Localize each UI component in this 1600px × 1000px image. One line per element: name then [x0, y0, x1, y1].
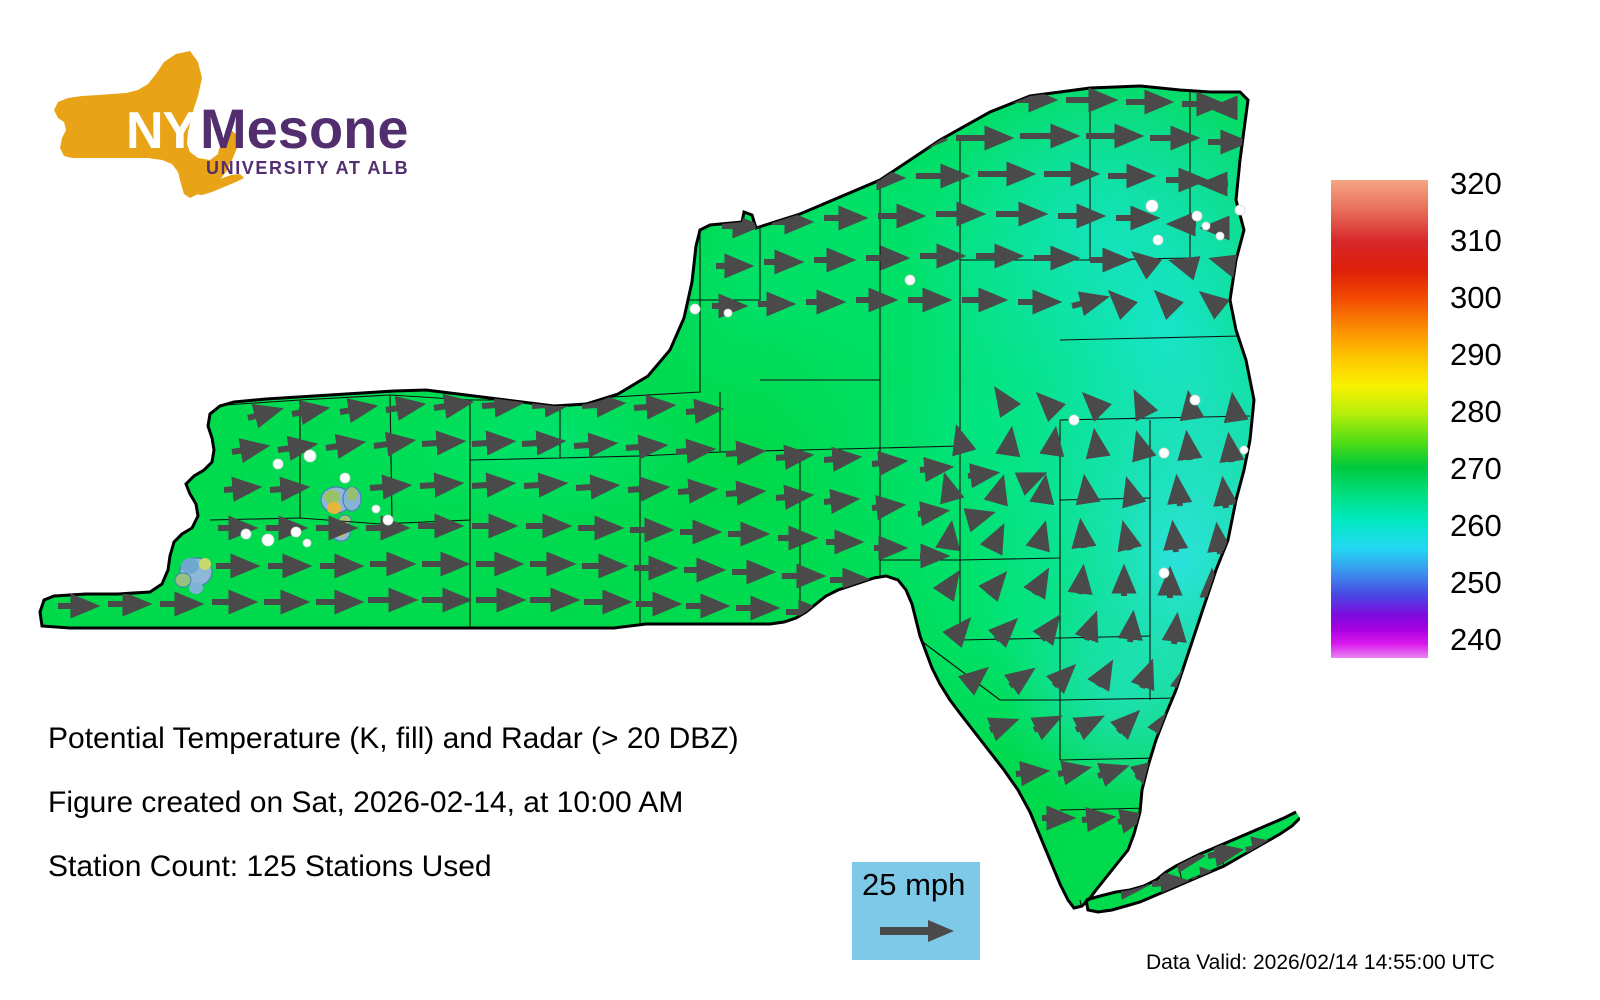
colorbar: 320 310 300 290 280 270 260 250 240: [1331, 180, 1581, 670]
colorbar-gradient: [1331, 180, 1428, 658]
station-count-text: Station Count: 125 Stations Used: [48, 852, 492, 882]
colorbar-tick-300: 300: [1450, 282, 1502, 313]
colorbar-tick-320: 320: [1450, 168, 1502, 199]
colorbar-tick-270: 270: [1450, 453, 1502, 484]
wind-legend-label: 25 mph: [862, 869, 965, 900]
colorbar-tick-240: 240: [1450, 624, 1502, 655]
data-valid-timestamp: Data Valid: 2026/02/14 14:55:00 UTC: [1146, 952, 1495, 973]
colorbar-tick-260: 260: [1450, 510, 1502, 541]
colorbar-tick-280: 280: [1450, 396, 1502, 427]
colorbar-tick-290: 290: [1450, 339, 1502, 370]
wind-reference-arrow-icon: [880, 917, 956, 945]
figure-title: Potential Temperature (K, fill) and Rada…: [48, 724, 739, 754]
colorbar-tick-310: 310: [1450, 225, 1502, 256]
colorbar-tick-250: 250: [1450, 567, 1502, 598]
figure-created-text: Figure created on Sat, 2026-02-14, at 10…: [48, 788, 683, 818]
wind-speed-legend: 25 mph: [852, 862, 980, 960]
